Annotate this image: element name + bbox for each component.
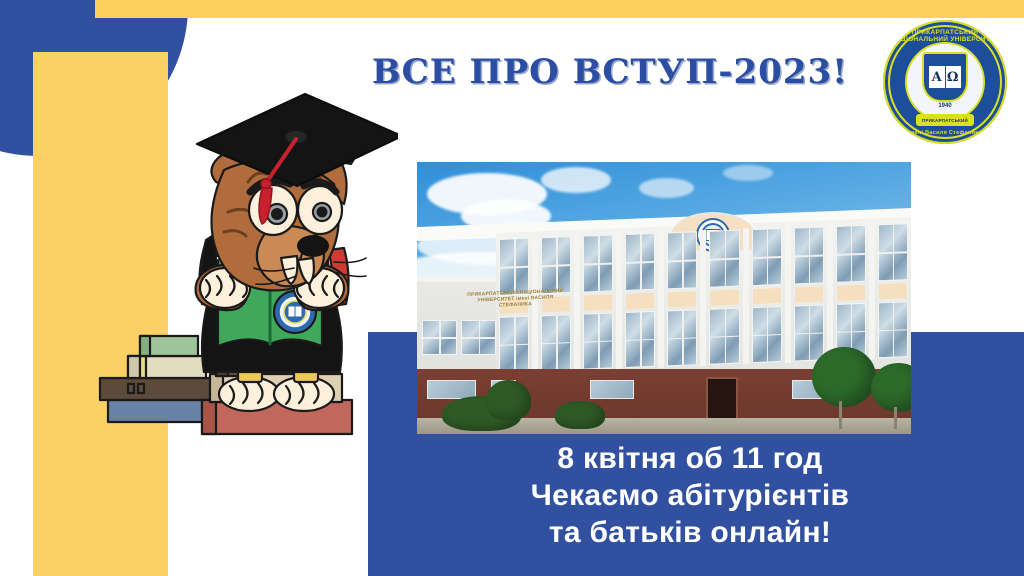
seal-open-book-icon: Α Ω bbox=[928, 65, 962, 89]
tree-trunk bbox=[839, 401, 842, 428]
building-wing-windows bbox=[422, 320, 496, 355]
lynx-graduate-mascot bbox=[98, 62, 398, 482]
announcement-line-2: Чекаємо абітурієнтів bbox=[430, 477, 950, 514]
tree-icon bbox=[812, 347, 876, 407]
poster-canvas: ПРИКАРПАТСЬКИЙ НАЦІОНАЛЬНИЙ УНІВЕРСИТЕТ … bbox=[0, 0, 1024, 576]
shrub-icon bbox=[486, 380, 530, 421]
announcement-line-1: 8 квітня об 11 год bbox=[430, 440, 950, 477]
page-title: ВСЕ ПРО ВСТУП-2023! bbox=[330, 52, 890, 92]
university-seal-logo: ПРИКАРПАТСЬКИЙ НАЦІОНАЛЬНИЙ УНІВЕРСИТЕТ … bbox=[883, 20, 1007, 144]
basement-window bbox=[590, 380, 634, 399]
shrub-icon bbox=[555, 401, 604, 428]
seal-letter-alpha: Α bbox=[932, 71, 942, 84]
seal-text-bottom: імені Василя Стефаника bbox=[883, 130, 1007, 136]
seal-text-top: ПРИКАРПАТСЬКИЙ НАЦІОНАЛЬНИЙ УНІВЕРСИТЕТ bbox=[883, 29, 1007, 43]
announcement-text: 8 квітня об 11 год Чекаємо абітурієнтів … bbox=[430, 440, 950, 551]
announcement-line-3: та батьків онлайн! bbox=[430, 514, 950, 551]
university-building-photo: ПРИКАРПАТСЬКИЙ НАЦІОНАЛЬНИЙ УНІВЕРСИТЕТ … bbox=[417, 162, 911, 434]
tree-trunk bbox=[894, 407, 897, 429]
seal-text-arabic: جامعة bbox=[883, 114, 1007, 121]
cloud-icon bbox=[723, 165, 773, 181]
building-entrance-door bbox=[706, 377, 738, 421]
seal-letter-omega: Ω bbox=[947, 71, 959, 84]
decor-yellow-top-bar bbox=[95, 0, 1024, 18]
seal-founding-year: 1940 bbox=[938, 103, 951, 109]
basement-window bbox=[427, 380, 476, 399]
seal-shield-icon: Α Ω bbox=[922, 52, 968, 102]
